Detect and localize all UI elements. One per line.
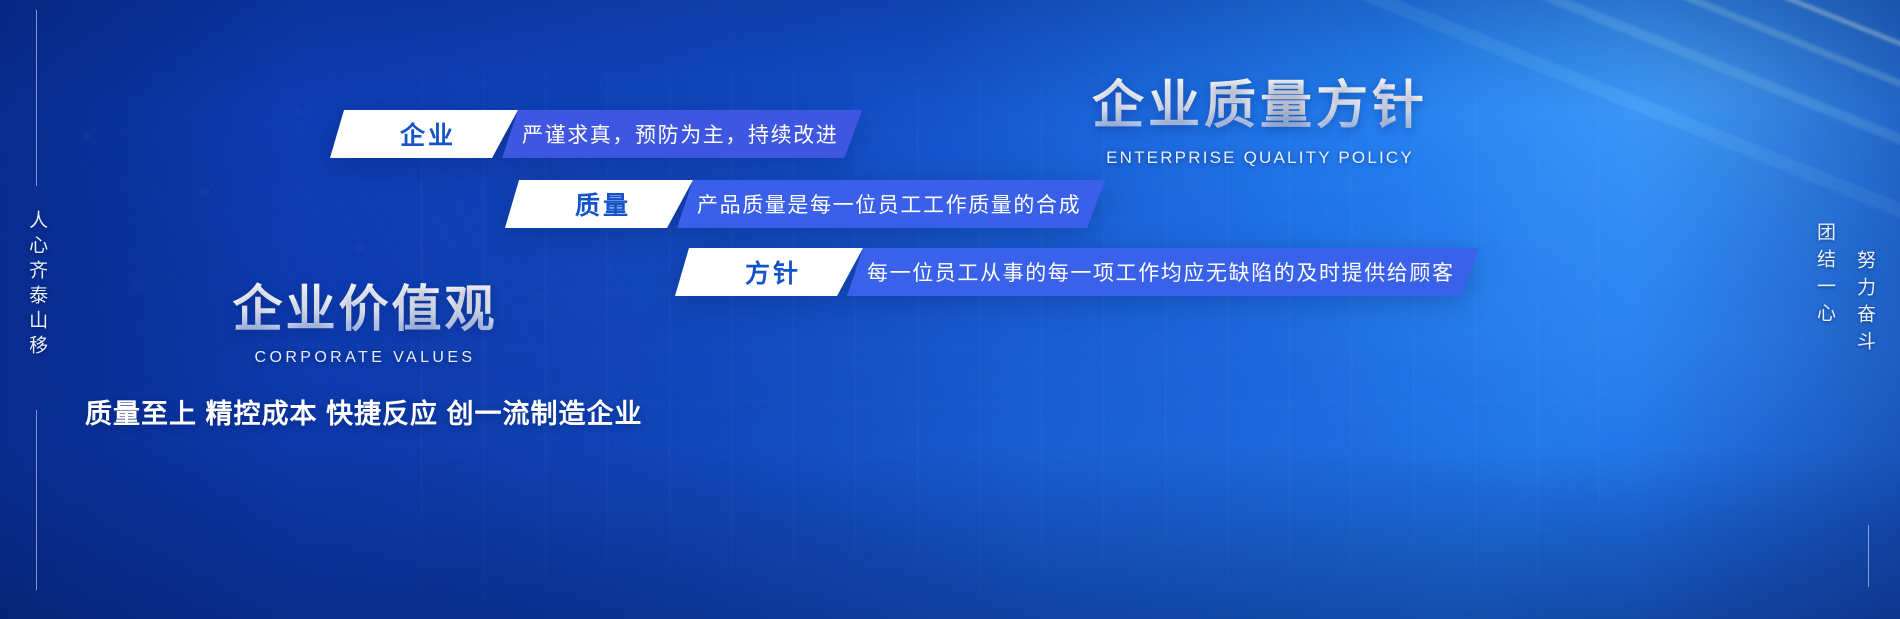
quality-policy-heading: 企业质量方针 ENTERPRISE QUALITY POLICY: [1055, 78, 1465, 168]
corporate-values-title: 企业价值观: [200, 282, 530, 337]
corporate-values-subtitle: CORPORATE VALUES: [200, 349, 530, 367]
policy-ribbon-1-tag: 企业: [330, 110, 518, 158]
corporate-culture-banner: 人心齐泰山移 团结一心 努力奋斗 企业质量方针 ENTERPRISE QUALI…: [0, 0, 1900, 619]
policy-ribbon-2-tag: 质量: [505, 180, 693, 228]
corporate-values-heading: 企业价值观 CORPORATE VALUES: [200, 282, 530, 367]
quality-policy-title: 企业质量方针: [1055, 78, 1465, 134]
quality-policy-subtitle: ENTERPRISE QUALITY POLICY: [1055, 148, 1465, 168]
left-vertical-slogan: 人心齐泰山移: [18, 210, 54, 360]
corporate-values-slogan: 质量至上 精控成本 快捷反应 创一流制造企业: [85, 392, 805, 431]
policy-ribbon-2-text: 产品质量是每一位员工工作质量的合成: [677, 180, 1105, 228]
right-vertical-slogan-line1: 团结一心: [1811, 222, 1838, 330]
right-vertical-slogan-line2: 努力奋斗: [1851, 250, 1878, 358]
left-rule-bottom: [36, 410, 37, 590]
policy-ribbon-3-text: 每一位员工从事的每一项工作均应无缺陷的及时提供给顾客: [847, 248, 1479, 296]
policy-ribbon-3-tag: 方针: [675, 248, 863, 296]
policy-ribbon-1: 企业 严谨求真，预防为主，持续改进: [330, 110, 862, 158]
left-rule-top: [36, 10, 37, 186]
policy-ribbon-2: 质量 产品质量是每一位员工工作质量的合成: [505, 180, 1105, 228]
right-rule: [1868, 525, 1869, 587]
policy-ribbon-1-text: 严谨求真，预防为主，持续改进: [502, 110, 862, 158]
policy-ribbon-3: 方针 每一位员工从事的每一项工作均应无缺陷的及时提供给顾客: [675, 248, 1479, 296]
